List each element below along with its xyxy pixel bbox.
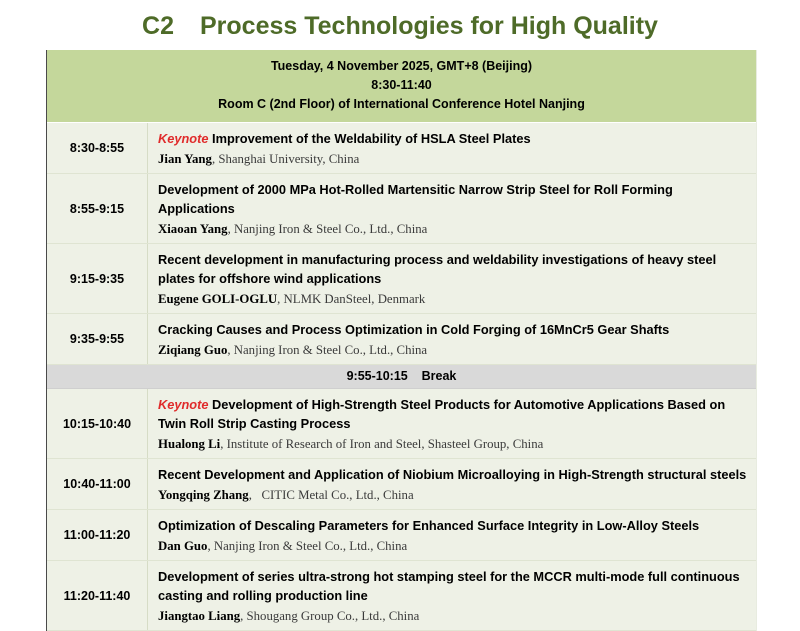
- session-content: Development of 2000 MPa Hot-Rolled Marte…: [148, 174, 756, 243]
- table-header: Tuesday, 4 November 2025, GMT+8 (Beijing…: [47, 50, 756, 123]
- table-row: 9:15-9:35Recent development in manufactu…: [47, 244, 756, 314]
- session-content: Development of series ultra-strong hot s…: [148, 561, 756, 630]
- author-name: Jiangtao Liang: [158, 609, 240, 623]
- session-content: Optimization of Descaling Parameters for…: [148, 510, 756, 560]
- break-row: 9:55-10:15 Break: [47, 365, 756, 389]
- session-content: Recent Development and Application of Ni…: [148, 459, 756, 509]
- session-authors: Jiangtao Liang, Shougang Group Co., Ltd.…: [158, 607, 748, 625]
- session-code: C2: [142, 12, 174, 40]
- author-name: Dan Guo: [158, 539, 207, 553]
- schedule-rows: 8:30-8:55Keynote Improvement of the Weld…: [47, 123, 756, 631]
- slide: C2Process Technologies for High Quality …: [0, 0, 800, 612]
- session-time: 8:55-9:15: [47, 174, 148, 243]
- author-name: Jian Yang: [158, 152, 212, 166]
- keynote-badge: Keynote: [158, 131, 209, 146]
- session-paper-title: Recent Development and Application of Ni…: [158, 465, 748, 484]
- session-authors: Jian Yang, Shanghai University, China: [158, 150, 748, 168]
- session-authors: Hualong Li, Institute of Research of Iro…: [158, 435, 748, 453]
- session-authors: Ziqiang Guo, Nanjing Iron & Steel Co., L…: [158, 341, 748, 359]
- session-time: 9:35-9:55: [47, 314, 148, 364]
- table-row: 10:40-11:00Recent Development and Applic…: [47, 459, 756, 510]
- session-content: Keynote Development of High-Strength Ste…: [148, 389, 756, 458]
- header-time: 8:30-11:40: [53, 76, 750, 95]
- table-row: 10:15-10:40Keynote Development of High-S…: [47, 389, 756, 459]
- author-name: Eugene GOLI-OGLU: [158, 292, 277, 306]
- header-venue: Room C (2nd Floor) of International Conf…: [53, 95, 750, 114]
- session-content: Recent development in manufacturing proc…: [148, 244, 756, 313]
- keynote-badge: Keynote: [158, 397, 209, 412]
- table-row: 11:20-11:40Development of series ultra-s…: [47, 561, 756, 631]
- session-authors: Yongqing Zhang, CITIC Metal Co., Ltd., C…: [158, 486, 748, 504]
- session-paper-title: Recent development in manufacturing proc…: [158, 250, 748, 288]
- session-paper-title: Optimization of Descaling Parameters for…: [158, 516, 748, 535]
- session-time: 11:20-11:40: [47, 561, 148, 630]
- author-name: Xiaoan Yang: [158, 222, 228, 236]
- session-paper-title: Development of series ultra-strong hot s…: [158, 567, 748, 605]
- page-title: C2Process Technologies for High Quality: [0, 12, 800, 41]
- session-paper-title: Keynote Improvement of the Weldability o…: [158, 129, 748, 148]
- table-row: 9:35-9:55Cracking Causes and Process Opt…: [47, 314, 756, 365]
- session-time: 9:15-9:35: [47, 244, 148, 313]
- session-content: Cracking Causes and Process Optimization…: [148, 314, 756, 364]
- session-paper-title: Cracking Causes and Process Optimization…: [158, 320, 748, 339]
- author-name: Hualong Li: [158, 437, 220, 451]
- session-time: 11:00-11:20: [47, 510, 148, 560]
- session-paper-title: Development of 2000 MPa Hot-Rolled Marte…: [158, 180, 748, 218]
- session-time: 10:15-10:40: [47, 389, 148, 458]
- session-time: 10:40-11:00: [47, 459, 148, 509]
- table-row: 8:55-9:15Development of 2000 MPa Hot-Rol…: [47, 174, 756, 244]
- session-content: Keynote Improvement of the Weldability o…: [148, 123, 756, 173]
- session-paper-title: Keynote Development of High-Strength Ste…: [158, 395, 748, 433]
- session-authors: Dan Guo, Nanjing Iron & Steel Co., Ltd.,…: [158, 537, 748, 555]
- session-authors: Eugene GOLI-OGLU, NLMK DanSteel, Denmark: [158, 290, 748, 308]
- session-title: Process Technologies for High Quality: [200, 12, 658, 40]
- session-time: 8:30-8:55: [47, 123, 148, 173]
- table-row: 8:30-8:55Keynote Improvement of the Weld…: [47, 123, 756, 174]
- table-row: 11:00-11:20Optimization of Descaling Par…: [47, 510, 756, 561]
- session-authors: Xiaoan Yang, Nanjing Iron & Steel Co., L…: [158, 220, 748, 238]
- header-date: Tuesday, 4 November 2025, GMT+8 (Beijing…: [53, 57, 750, 76]
- author-name: Ziqiang Guo: [158, 343, 227, 357]
- schedule-table: Tuesday, 4 November 2025, GMT+8 (Beijing…: [46, 50, 757, 631]
- author-name: Yongqing Zhang: [158, 488, 249, 502]
